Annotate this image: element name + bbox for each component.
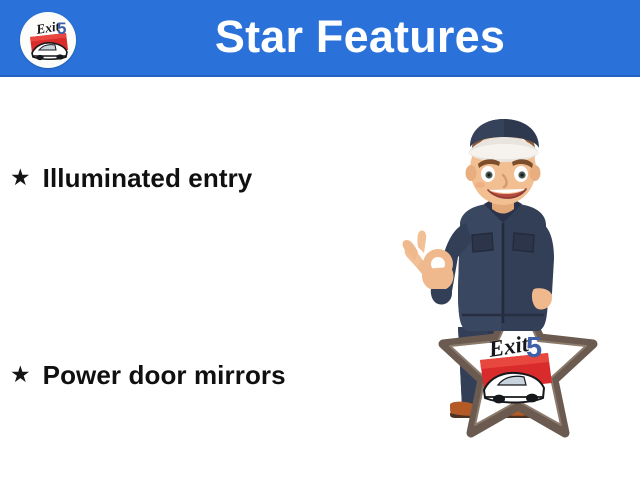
feature-label: Illuminated entry [43,163,253,194]
list-item: ★ Power door mirrors [10,360,286,391]
mechanic-illustration: Exit 5 [388,117,638,442]
page-title: Star Features [96,0,624,77]
star-bullet-icon: ★ [10,363,31,386]
feature-label: Power door mirrors [43,360,286,391]
star-bullet-icon: ★ [10,166,31,189]
exit5-logo: Exit 5 [20,12,76,68]
slide-canvas: Exit 5 Star Features ★ Illuminated entry… [0,0,640,480]
slide-body: ★ Illuminated entry ★ Power door mirrors [0,77,640,480]
logo-brand-number: 5 [57,19,66,38]
badge-brand-number: 5 [526,332,542,364]
list-item: ★ Illuminated entry [10,163,252,194]
slide-header: Exit 5 Star Features [0,0,640,77]
exit5-badge-icon: Exit 5 [480,331,552,403]
ok-hand-icon [403,230,454,289]
